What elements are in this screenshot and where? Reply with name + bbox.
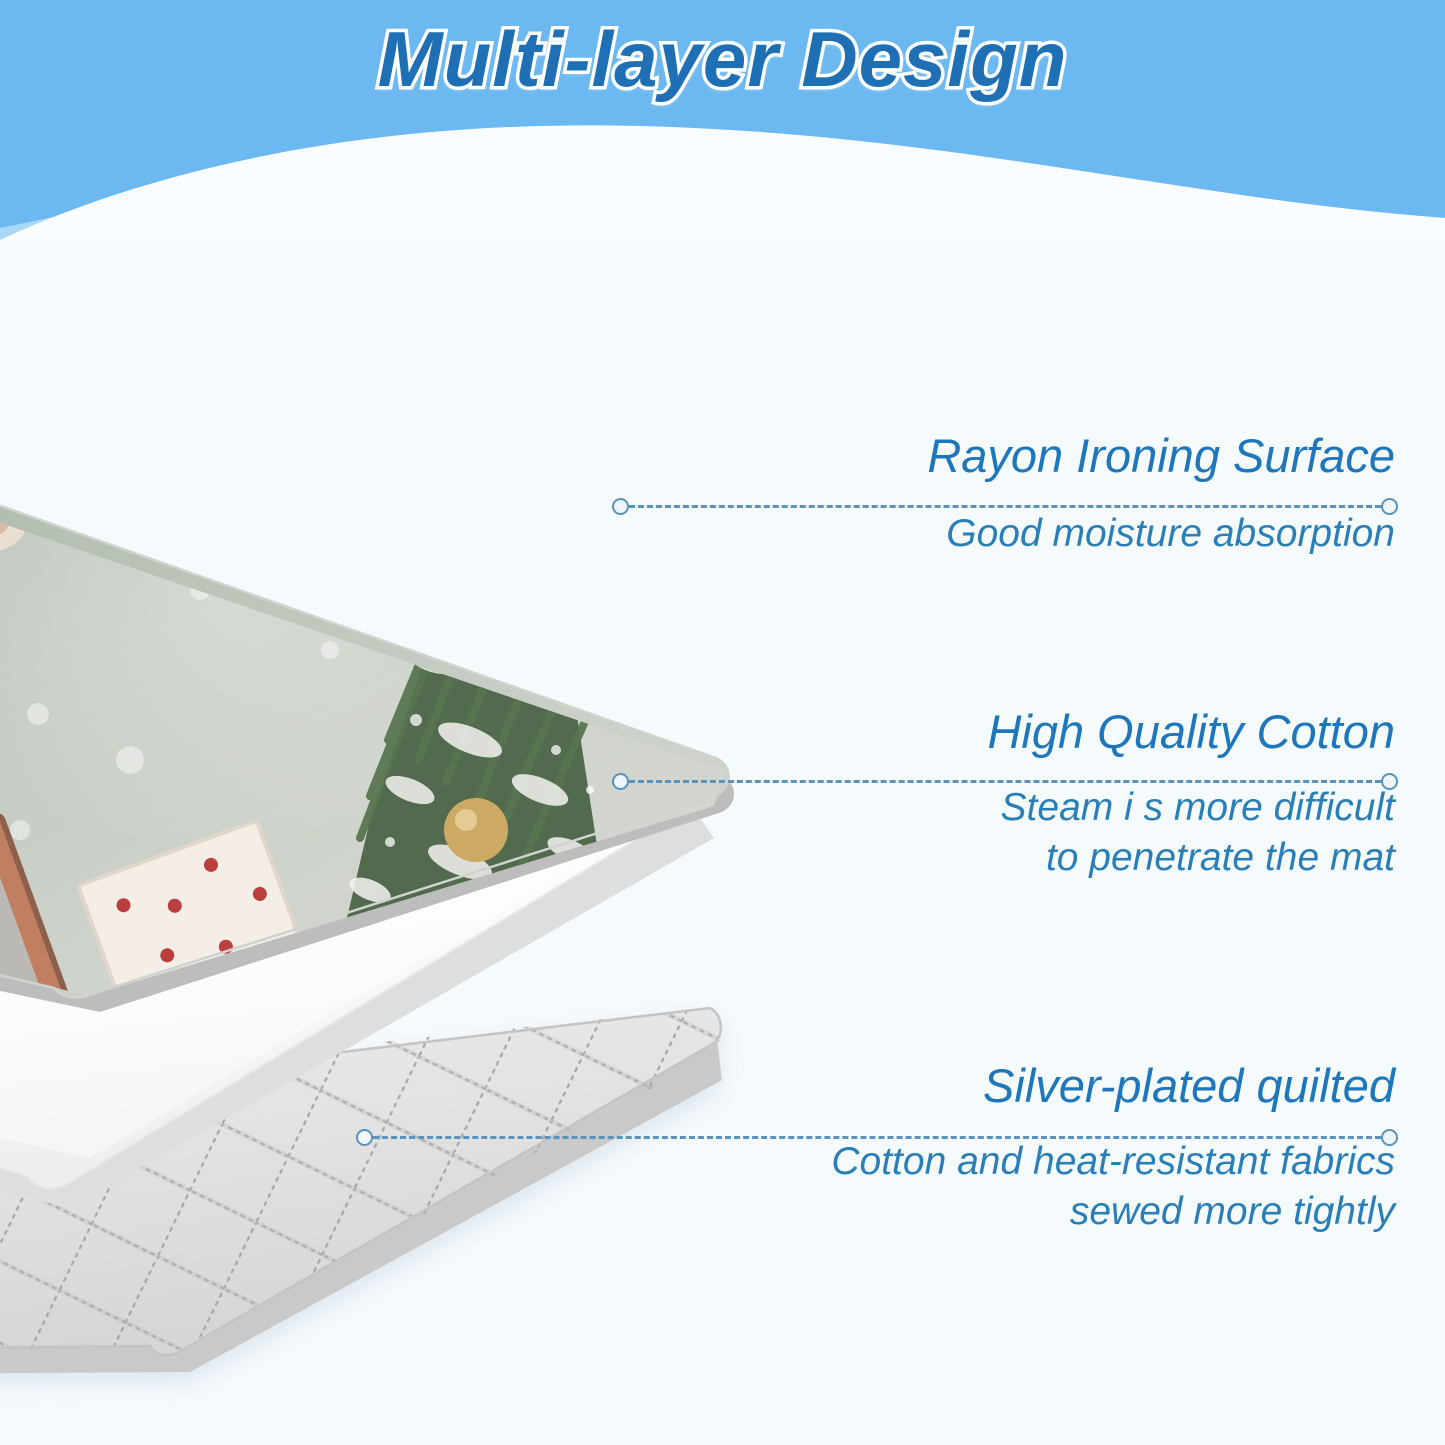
page-title: Multi-layer Design bbox=[0, 14, 1445, 105]
feature-description-line: Steam i s more difficult bbox=[987, 783, 1395, 833]
feature-description: Good moisture absorption bbox=[927, 509, 1395, 559]
wave-white bbox=[0, 125, 1445, 240]
feature-title: Rayon Ironing Surface bbox=[927, 430, 1395, 483]
feature-high-quality-cotton: High Quality Cotton Steam i s more diffi… bbox=[987, 706, 1395, 882]
product-layer-stack bbox=[0, 290, 780, 1380]
feature-description: Steam i s more difficult to penetrate th… bbox=[987, 783, 1395, 883]
header-banner: Multi-layer Design bbox=[0, 0, 1445, 240]
feature-description: Cotton and heat-resistant fabrics sewed … bbox=[831, 1137, 1395, 1237]
leader-node-start bbox=[356, 1129, 373, 1146]
feature-description-line: sewed more tightly bbox=[831, 1187, 1395, 1237]
feature-title: High Quality Cotton bbox=[987, 706, 1395, 759]
leader-node-start bbox=[612, 498, 629, 515]
header-wave-decoration bbox=[0, 100, 1445, 240]
leader-node-start bbox=[612, 773, 629, 790]
feature-silver-plated-quilted: Silver-plated quilted Cotton and heat-re… bbox=[831, 1060, 1395, 1236]
feature-description-line: to penetrate the mat bbox=[987, 833, 1395, 883]
feature-description-line: Cotton and heat-resistant fabrics bbox=[831, 1137, 1395, 1187]
feature-title: Silver-plated quilted bbox=[831, 1060, 1395, 1113]
feature-description-line: Good moisture absorption bbox=[927, 509, 1395, 559]
feature-rayon-ironing-surface: Rayon Ironing Surface Good moisture abso… bbox=[927, 430, 1395, 559]
